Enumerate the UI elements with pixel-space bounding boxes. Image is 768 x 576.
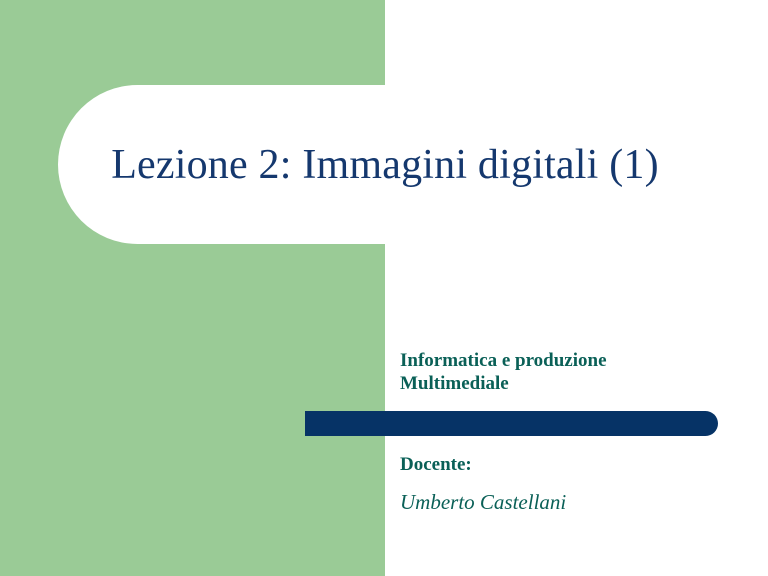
accent-bar <box>305 411 718 436</box>
presentation-slide: Lezione 2: Immagini digitali (1) Informa… <box>0 0 768 576</box>
course-title-line-1: Informatica e produzione <box>400 349 730 372</box>
course-title-block: Informatica e produzione Multimediale <box>400 349 730 395</box>
course-title-line-2: Multimediale <box>400 372 730 395</box>
instructor-name: Umberto Castellani <box>400 489 730 515</box>
page-title: Lezione 2: Immagini digitali (1) <box>58 85 712 244</box>
instructor-label: Docente: <box>400 453 730 477</box>
title-banner: Lezione 2: Immagini digitali (1) <box>58 85 768 244</box>
instructor-block: Docente: Umberto Castellani <box>400 453 730 515</box>
